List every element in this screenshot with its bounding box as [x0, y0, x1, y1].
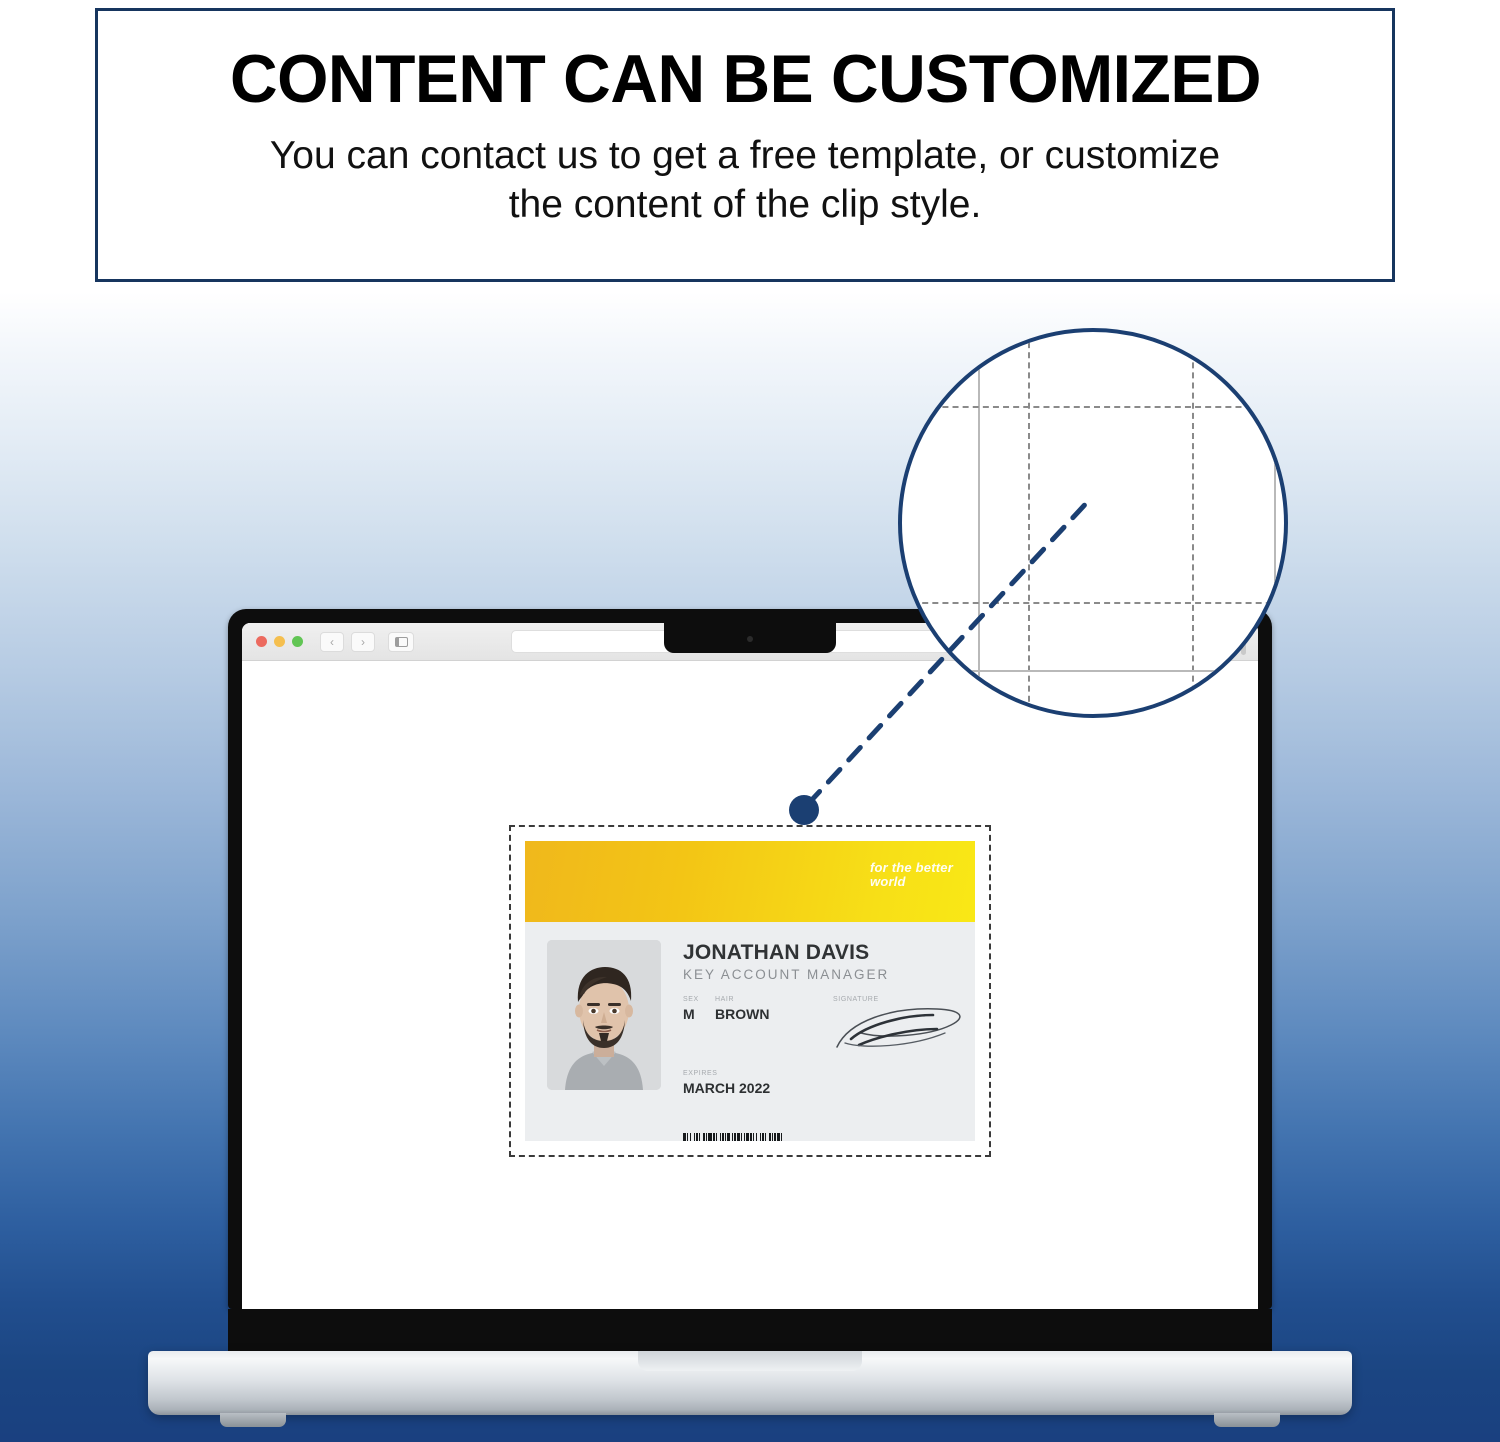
header-callout-box: CONTENT CAN BE CUSTOMIZED You can contac… [95, 8, 1395, 282]
id-card: for the better world [525, 841, 975, 1141]
forward-button[interactable]: › [351, 632, 375, 652]
id-card-info: JONATHAN DAVIS KEY ACCOUNT MANAGER SEX M [683, 940, 973, 1095]
field-hair-value: BROWN [715, 1007, 833, 1021]
page-subtitle: You can contact us to get a free templat… [270, 132, 1220, 230]
magnifier-guide-line [978, 332, 980, 718]
avatar [547, 940, 661, 1090]
field-signature: SIGNATURE [833, 996, 973, 1057]
signature-area [833, 1003, 973, 1057]
magnifier-dashed-line-vertical-left [1028, 332, 1030, 718]
laptop-mockup: ‹ › ↻ [228, 609, 1272, 1442]
minimize-button-icon[interactable] [274, 636, 285, 647]
sidebar-icon [395, 637, 408, 647]
header-band: CONTENT CAN BE CUSTOMIZED You can contac… [0, 0, 1500, 292]
magnifier-dashed-line-vertical-right [1192, 332, 1194, 718]
portrait-illustration [547, 940, 661, 1090]
field-signature-label: SIGNATURE [833, 996, 973, 1003]
laptop-foot-left [220, 1413, 286, 1427]
cardholder-name: JONATHAN DAVIS [683, 942, 973, 963]
laptop-screen: ‹ › ↻ [242, 623, 1258, 1309]
field-sex: SEX M [683, 996, 715, 1021]
laptop-base-notch [638, 1351, 862, 1371]
page-subtitle-line-2: the content of the clip style. [270, 181, 1220, 230]
cardholder-role: KEY ACCOUNT MANAGER [683, 968, 973, 982]
laptop-foot-right [1214, 1413, 1280, 1427]
field-sex-label: SEX [683, 996, 715, 1003]
id-card-header-banner: for the better world [525, 841, 975, 922]
camera-icon [747, 636, 753, 642]
id-card-field-row: SEX M HAIR BROWN [683, 996, 973, 1057]
page-subtitle-line-1: You can contact us to get a free templat… [270, 132, 1220, 181]
magnifier-dashed-line-horizontal-bottom [902, 602, 1288, 604]
signature-icon [833, 1003, 973, 1057]
sidebar-toggle-button[interactable] [388, 632, 414, 652]
barcode: (013) 0931 2345 6789 07 [683, 1133, 935, 1142]
field-expires: EXPIRES MARCH 2022 [683, 1070, 973, 1095]
field-expires-label: EXPIRES [683, 1070, 973, 1077]
id-card-tagline: for the better world [870, 861, 953, 889]
window-controls[interactable] [256, 636, 303, 647]
id-card-cut-area[interactable]: for the better world [509, 825, 991, 1157]
poster-root: CONTENT CAN BE CUSTOMIZED You can contac… [0, 0, 1500, 1442]
laptop-base [148, 1351, 1352, 1415]
magnifier-dashed-line-horizontal-top [902, 406, 1288, 408]
browser-viewport: for the better world [242, 661, 1258, 1309]
magnifier-guide-line-bottom [902, 670, 1288, 672]
magnifier-guide-line-right [1274, 332, 1276, 718]
close-button-icon[interactable] [256, 636, 267, 647]
field-hair-label: HAIR [715, 996, 833, 1003]
blue-gradient-stage: ‹ › ↻ [0, 292, 1500, 1442]
page-title: CONTENT CAN BE CUSTOMIZED [229, 45, 1260, 114]
back-button[interactable]: ‹ [320, 632, 344, 652]
maximize-button-icon[interactable] [292, 636, 303, 647]
field-expires-value: MARCH 2022 [683, 1081, 973, 1095]
camera-notch [664, 623, 836, 653]
id-card-body: JONATHAN DAVIS KEY ACCOUNT MANAGER SEX M [525, 922, 975, 1095]
field-hair: HAIR BROWN [715, 996, 833, 1021]
id-card-tagline-line-1: for the better [870, 861, 953, 875]
id-card-tagline-line-2: world [870, 875, 953, 889]
field-sex-value: M [683, 1007, 715, 1021]
barcode-bars [683, 1133, 935, 1142]
magnifier-callout [898, 328, 1288, 718]
